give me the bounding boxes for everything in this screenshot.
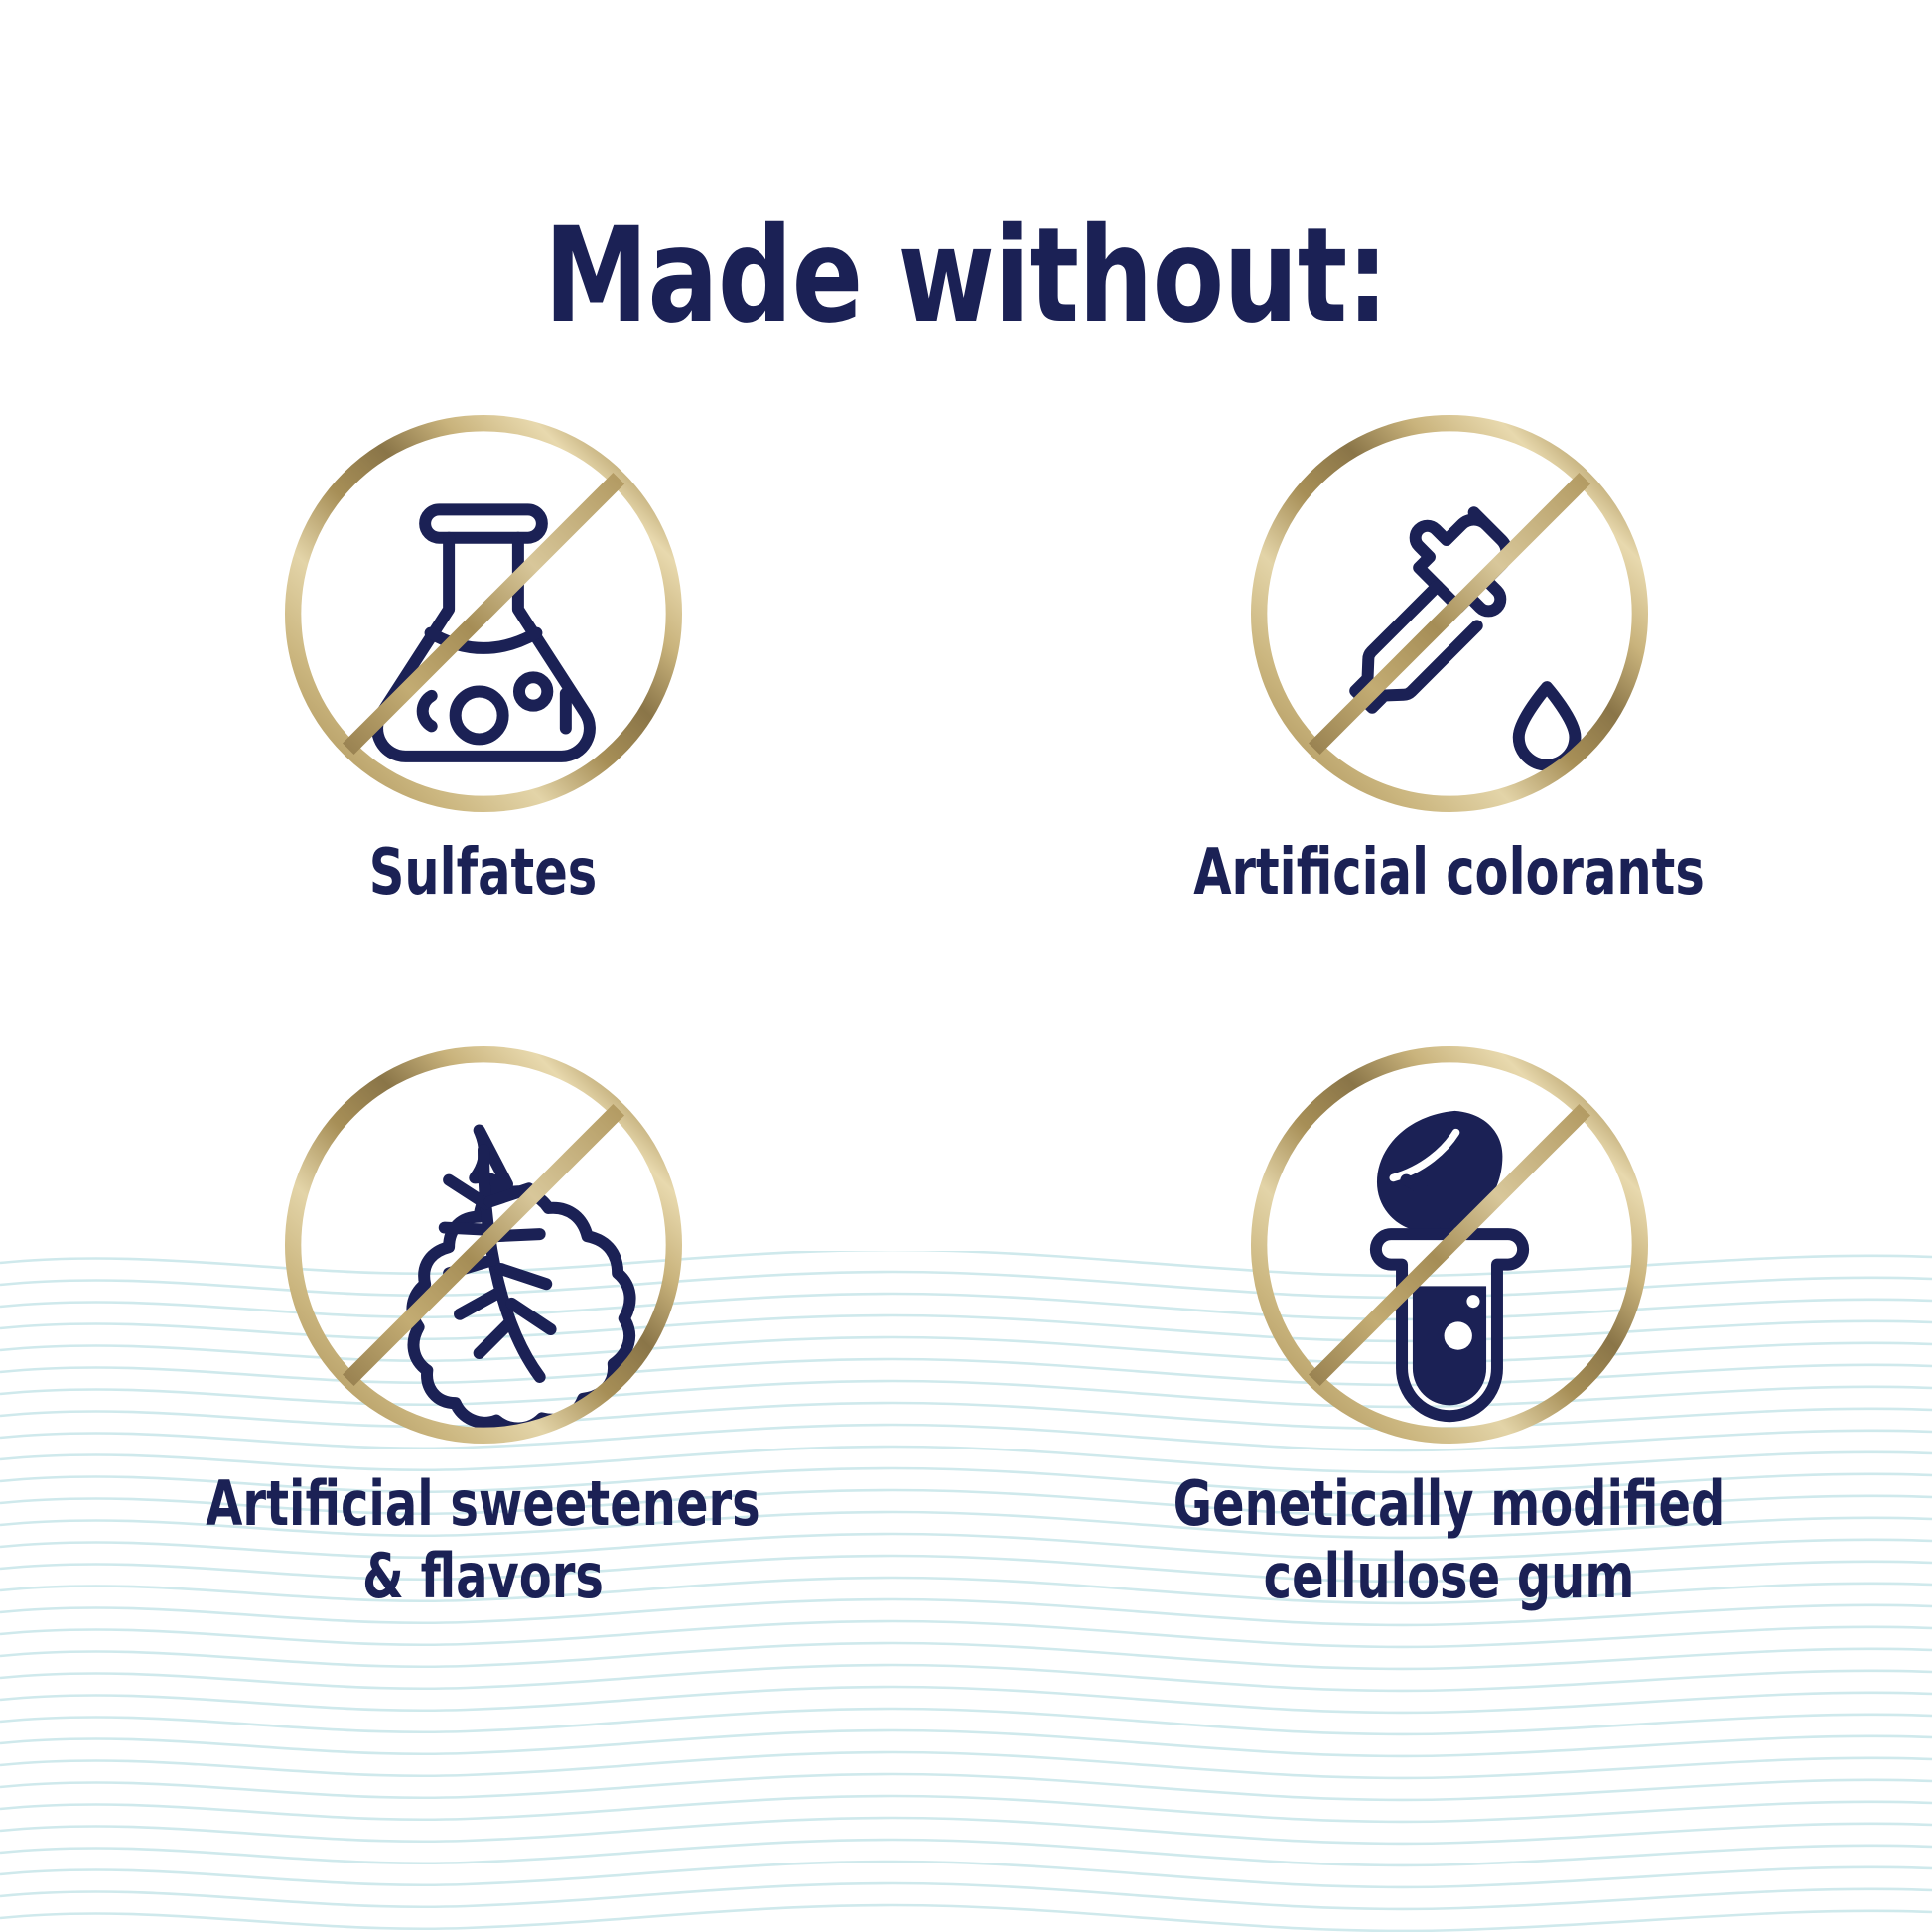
test-tube-leaf-icon	[1375, 1111, 1522, 1416]
item-artificial-colorants: Artificial colorants	[966, 397, 1932, 911]
item-caption-sulfates: Sulfates	[68, 836, 898, 911]
leaf-vein-4	[460, 1293, 498, 1314]
flask-bubble-arc-left	[422, 696, 431, 727]
item-caption-artificial-sweeteners: Artificial sweeteners & flavors	[68, 1467, 898, 1612]
test-tube-bubble-large	[1444, 1321, 1471, 1349]
item-sulfates: Sulfates	[0, 397, 966, 911]
leaf-vein-5	[479, 1322, 509, 1353]
poster-canvas: Made without:	[0, 0, 1932, 1932]
test-tube-leaf-prohibition-svg	[1233, 1029, 1666, 1461]
dropper-prohibition-svg	[1233, 397, 1666, 830]
made-without-grid: Sulfates	[0, 397, 1932, 1787]
item-caption-artificial-colorants: Artificial colorants	[1034, 836, 1864, 911]
prohibition-badge-gmo-cellulose-gum	[1233, 1029, 1666, 1461]
test-tube-bubble-small	[1466, 1295, 1479, 1308]
prohibition-slash	[1313, 479, 1585, 750]
flask-rim	[425, 509, 542, 537]
flask-bubble-large	[455, 691, 502, 739]
leaf-vein-8	[500, 1269, 546, 1284]
prohibition-badge-sulfates	[267, 397, 700, 830]
item-gmo-cellulose-gum: Genetically modified cellulose gum	[966, 1029, 1932, 1612]
page-title: Made without:	[194, 210, 1739, 342]
leaf-prohibition-svg	[267, 1029, 700, 1461]
prohibition-badge-artificial-sweeteners	[267, 1029, 700, 1461]
item-artificial-sweeteners-flavors: Artificial sweeteners & flavors	[0, 1029, 966, 1612]
item-caption-gmo-cellulose-gum: Genetically modified cellulose gum	[1034, 1467, 1864, 1612]
flask-prohibition-svg	[267, 397, 700, 830]
prohibition-badge-artificial-colorants	[1233, 397, 1666, 830]
leaf-vein-2	[444, 1228, 487, 1230]
flask-bubble-small	[518, 677, 546, 705]
